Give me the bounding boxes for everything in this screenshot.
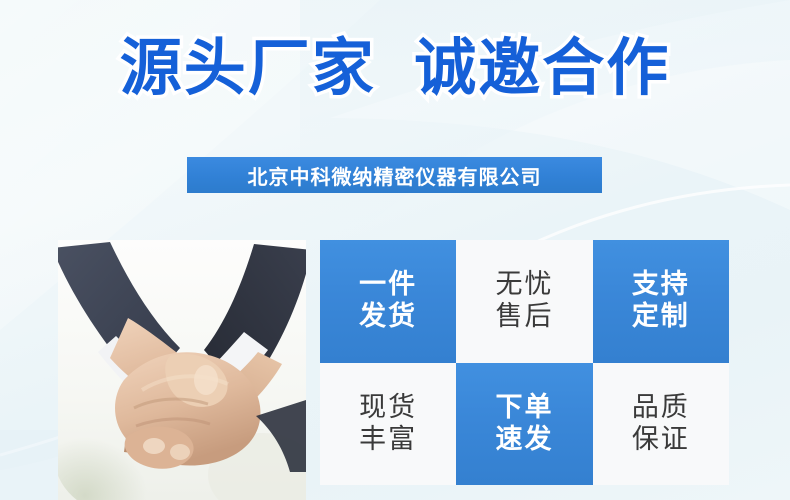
feature-cell-worry-free-service[interactable]: 无忧 售后 [456,240,592,363]
company-name-text: 北京中科微纳精密仪器有限公司 [248,161,542,190]
feature-line-1: 现货 [359,392,417,424]
feature-line-2: 丰富 [359,424,417,456]
feature-cell-ample-stock[interactable]: 现货 丰富 [320,363,456,486]
feature-line-2: 发货 [359,301,417,333]
feature-grid: 一件 发货 无忧 售后 支持 定制 现货 丰富 下单 速发 品质 保证 [320,240,729,485]
company-name-bar: 北京中科微纳精密仪器有限公司 [187,157,602,193]
feature-line-1: 下单 [495,392,553,424]
feature-line-1: 支持 [632,269,690,301]
feature-line-2: 保证 [632,424,690,456]
feature-cell-customization-support[interactable]: 支持 定制 [593,240,729,363]
feature-line-1: 一件 [359,269,417,301]
feature-line-1: 无忧 [495,269,553,301]
handshake-photo [58,240,306,500]
headline-container: 源头厂家 诚邀合作 [0,36,790,101]
feature-cell-one-piece-shipping[interactable]: 一件 发货 [320,240,456,363]
feature-cell-fast-dispatch[interactable]: 下单 速发 [456,363,592,486]
feature-cell-quality-guarantee[interactable]: 品质 保证 [593,363,729,486]
promo-banner: 源头厂家 诚邀合作 北京中科微纳精密仪器有限公司 [0,0,790,500]
feature-line-2: 速发 [495,424,553,456]
feature-line-2: 定制 [632,301,690,333]
feature-line-2: 售后 [495,301,553,333]
headline-text: 源头厂家 诚邀合作 [120,36,670,101]
feature-line-1: 品质 [632,392,690,424]
